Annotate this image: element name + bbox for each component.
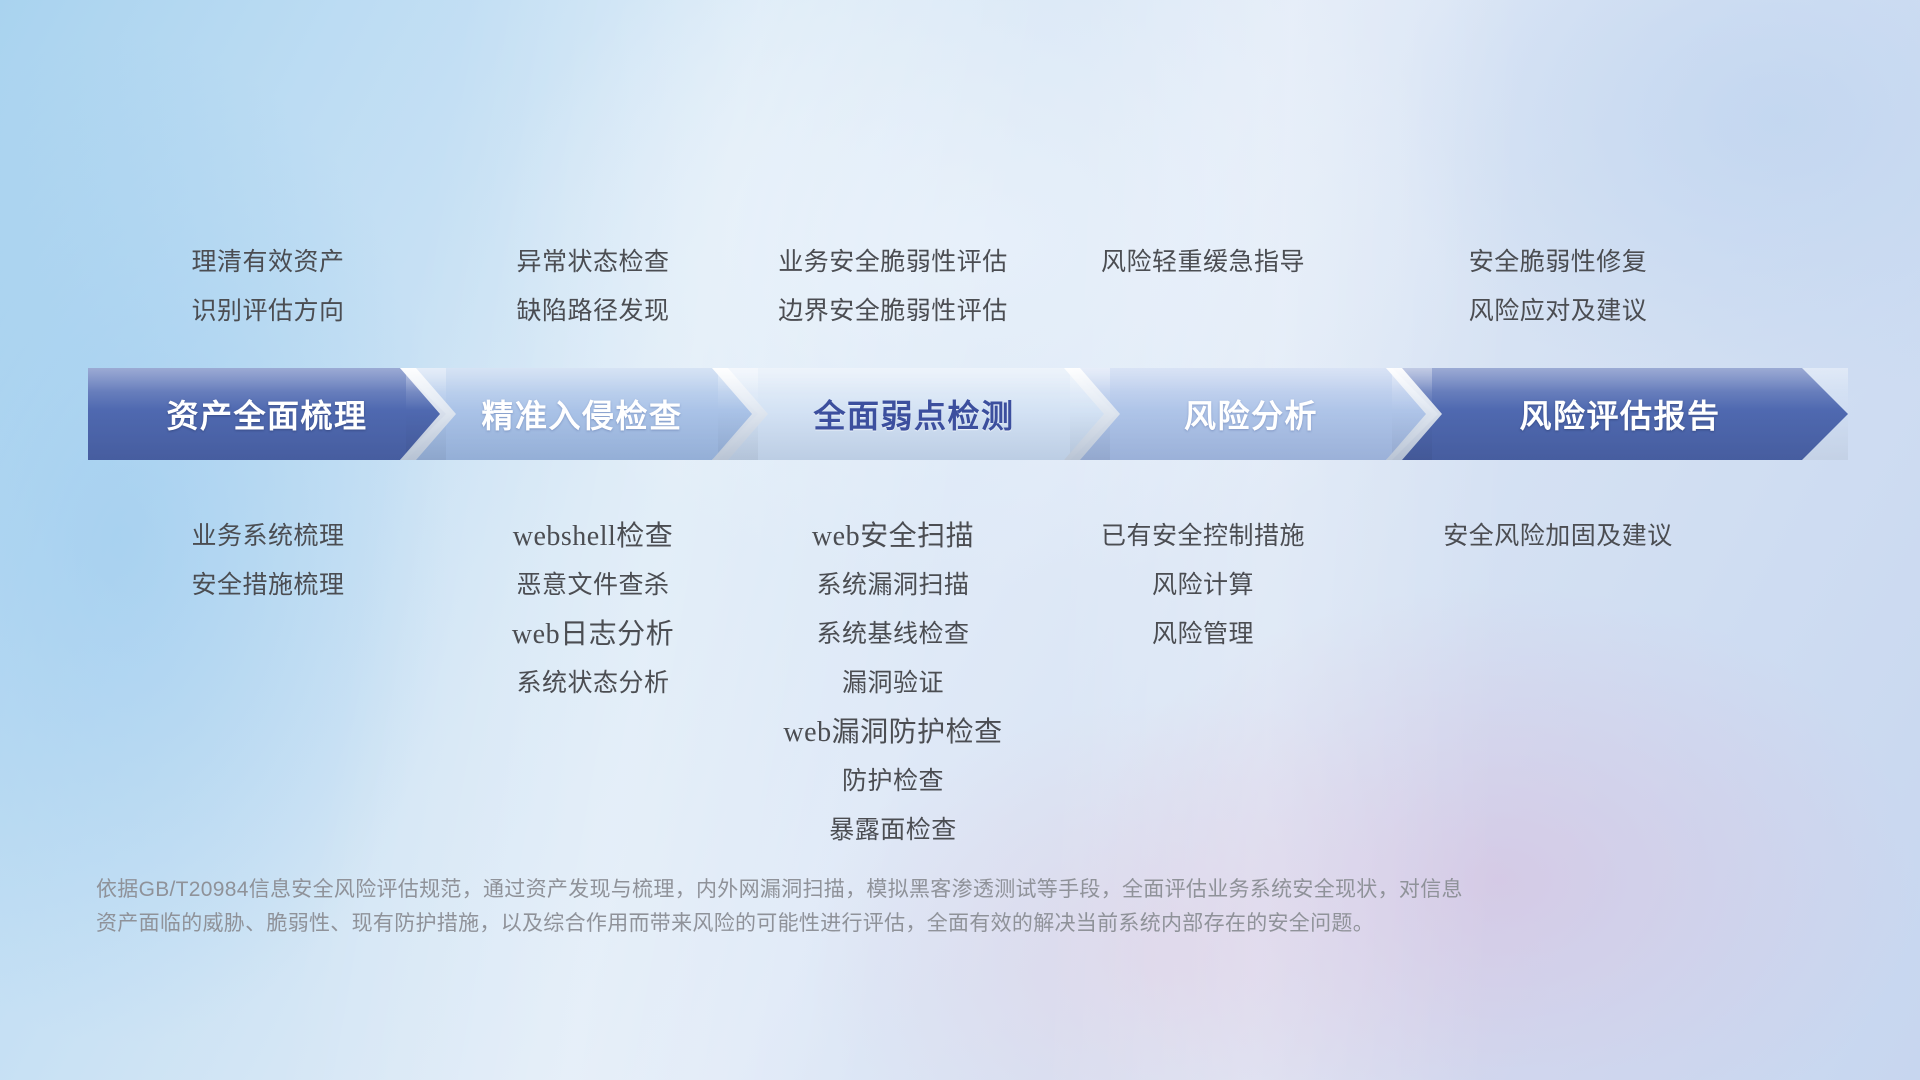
list-item: 暴露面检查: [738, 806, 1048, 855]
chevron-step-2[interactable]: 精准入侵检查: [406, 368, 758, 460]
chevron-label: 资产全面梳理: [166, 391, 367, 437]
list-item: web漏洞防护检查: [738, 708, 1048, 757]
chevron-label: 全面弱点检测: [813, 391, 1014, 437]
top-label-group-3: 业务安全脆弱性评估 边界安全脆弱性评估: [738, 238, 1048, 336]
chevron-label: 风险分析: [1184, 391, 1318, 437]
chevron-label: 风险评估报告: [1519, 391, 1720, 437]
slide-canvas: 理清有效资产 识别评估方向 业务系统梳理 安全措施梳理 异常状态检查 缺陷路径发…: [0, 0, 1920, 1080]
list-item: 已有安全控制措施: [1048, 512, 1358, 561]
top-label: 缺陷路径发现: [448, 287, 738, 336]
bottom-list-5: 安全风险加固及建议: [1358, 512, 1758, 561]
footer-line-2: 资产面临的威胁、脆弱性、现有防护措施，以及综合作用而带来风险的可能性进行评估，全…: [96, 907, 1676, 941]
list-item: 系统状态分析: [448, 659, 738, 708]
top-label: 理清有效资产: [88, 238, 448, 287]
list-item: 安全措施梳理: [88, 561, 448, 610]
list-item: 风险管理: [1048, 610, 1358, 659]
list-item: 业务系统梳理: [88, 512, 448, 561]
chevron-step-1[interactable]: 资产全面梳理: [88, 368, 446, 460]
list-item: web安全扫描: [738, 512, 1048, 561]
list-item: 系统漏洞扫描: [738, 561, 1048, 610]
chevron-step-5[interactable]: 风险评估报告: [1392, 368, 1848, 460]
top-label: 安全脆弱性修复: [1358, 238, 1758, 287]
list-item: web日志分析: [448, 610, 738, 659]
bottom-list-1: 业务系统梳理 安全措施梳理: [88, 512, 448, 610]
list-item: 防护检查: [738, 757, 1048, 806]
top-label: 风险轻重缓急指导: [1048, 238, 1358, 287]
bottom-list-4: 已有安全控制措施 风险计算 风险管理: [1048, 512, 1358, 659]
chevron-label: 精准入侵检查: [481, 391, 682, 437]
bottom-list-3: web安全扫描 系统漏洞扫描 系统基线检查 漏洞验证 web漏洞防护检查 防护检…: [738, 512, 1048, 855]
bottom-list-2: webshell检查 恶意文件查杀 web日志分析 系统状态分析: [448, 512, 738, 708]
list-item: webshell检查: [448, 512, 738, 561]
process-chevron-banner: 资产全面梳理 精准入侵检查 全面弱点检测 风险分析 风险评估报告: [88, 368, 1848, 460]
list-item: 安全风险加固及建议: [1358, 512, 1758, 561]
list-item: 漏洞验证: [738, 659, 1048, 708]
top-label-group-2: 异常状态检查 缺陷路径发现: [448, 238, 738, 336]
top-label: 识别评估方向: [88, 287, 448, 336]
top-label-group-5: 安全脆弱性修复 风险应对及建议: [1358, 238, 1758, 336]
footer-line-1: 依据GB/T20984信息安全风险评估规范，通过资产发现与梳理，内外网漏洞扫描，…: [96, 873, 1676, 907]
top-label-group-4: 风险轻重缓急指导: [1048, 238, 1358, 287]
top-label: 业务安全脆弱性评估: [738, 238, 1048, 287]
top-label-group-1: 理清有效资产 识别评估方向: [88, 238, 448, 336]
list-item: 恶意文件查杀: [448, 561, 738, 610]
top-label: 边界安全脆弱性评估: [738, 287, 1048, 336]
top-label: 异常状态检查: [448, 238, 738, 287]
list-item: 风险计算: [1048, 561, 1358, 610]
chevron-step-4[interactable]: 风险分析: [1070, 368, 1432, 460]
chevron-step-3[interactable]: 全面弱点检测: [718, 368, 1110, 460]
list-item: 系统基线检查: [738, 610, 1048, 659]
top-label: 风险应对及建议: [1358, 287, 1758, 336]
footer-description: 依据GB/T20984信息安全风险评估规范，通过资产发现与梳理，内外网漏洞扫描，…: [96, 873, 1676, 941]
